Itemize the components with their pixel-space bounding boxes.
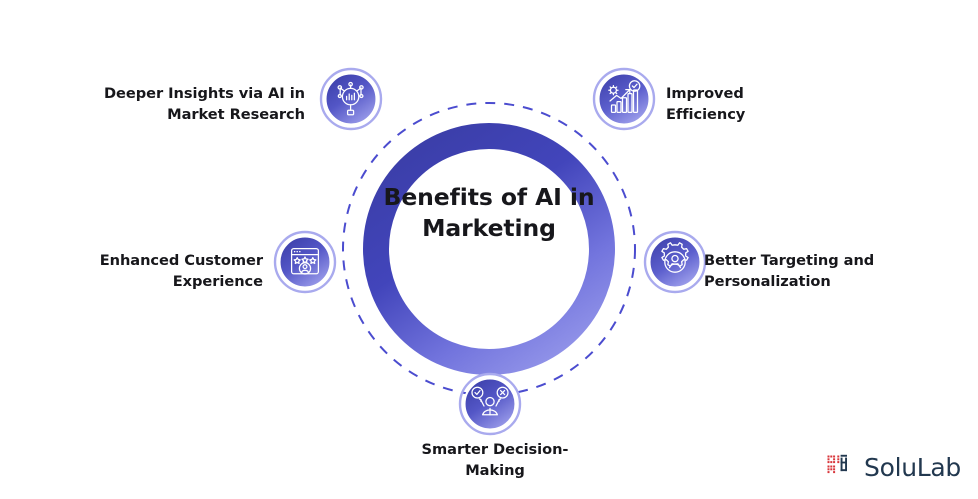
node-badge-improved-efficiency[interactable] xyxy=(594,69,654,129)
center-ring xyxy=(376,136,602,362)
node-label-improved-efficiency[interactable]: Improved Efficiency xyxy=(666,84,896,125)
diagram-graphics xyxy=(0,0,978,499)
node-label-deeper-insights[interactable]: Deeper Insights via AI in Market Researc… xyxy=(60,84,305,125)
infographic-canvas: Benefits of AI in Marketing Deeper Insig… xyxy=(0,0,978,499)
center-title-line-2: Marketing xyxy=(369,213,609,244)
node-badge-deeper-insights[interactable] xyxy=(321,69,381,129)
node-badge-smarter-decision-making[interactable] xyxy=(460,374,520,434)
brand-logo[interactable]: SoluLab xyxy=(826,452,961,482)
center-title: Benefits of AI in Marketing xyxy=(369,182,609,244)
solulab-logo-icon xyxy=(826,452,856,482)
node-label-better-targeting[interactable]: Better Targeting and Personalization xyxy=(704,251,934,292)
center-title-line-1: Benefits of AI in xyxy=(369,182,609,213)
logo-wordmark: SoluLab xyxy=(864,455,961,480)
node-badge-better-targeting[interactable] xyxy=(645,232,705,292)
node-label-smarter-decision-making[interactable]: Smarter Decision- Making xyxy=(385,440,605,481)
node-label-enhanced-customer-experience[interactable]: Enhanced Customer Experience xyxy=(58,251,263,292)
node-badge-enhanced-customer-experience[interactable] xyxy=(275,232,335,292)
